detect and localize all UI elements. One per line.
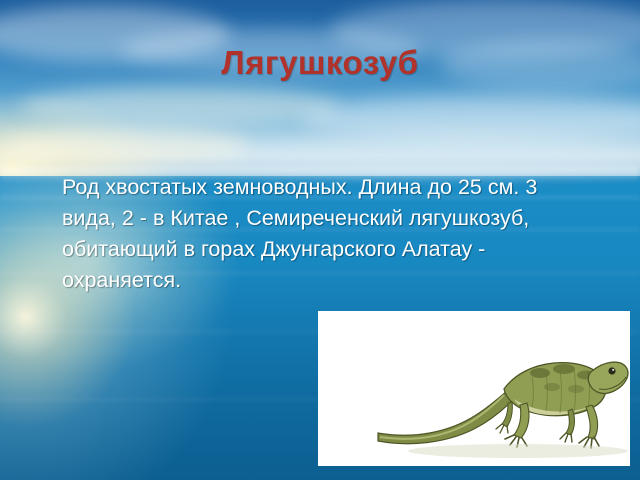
slide-body-text: Род хвостатых земноводных. Длина до 25 с…: [62, 172, 592, 296]
salamander-drawing: [318, 311, 630, 466]
cloud-shape: [200, 138, 640, 172]
slide-title: Лягушкозуб: [0, 44, 640, 82]
slide: Лягушкозуб Род хвостатых земноводных. Дл…: [0, 0, 640, 480]
salamander-illustration: [318, 311, 630, 466]
cloud-shape: [20, 86, 340, 126]
body-paragraph: Род хвостатых земноводных. Длина до 25 с…: [62, 172, 592, 296]
